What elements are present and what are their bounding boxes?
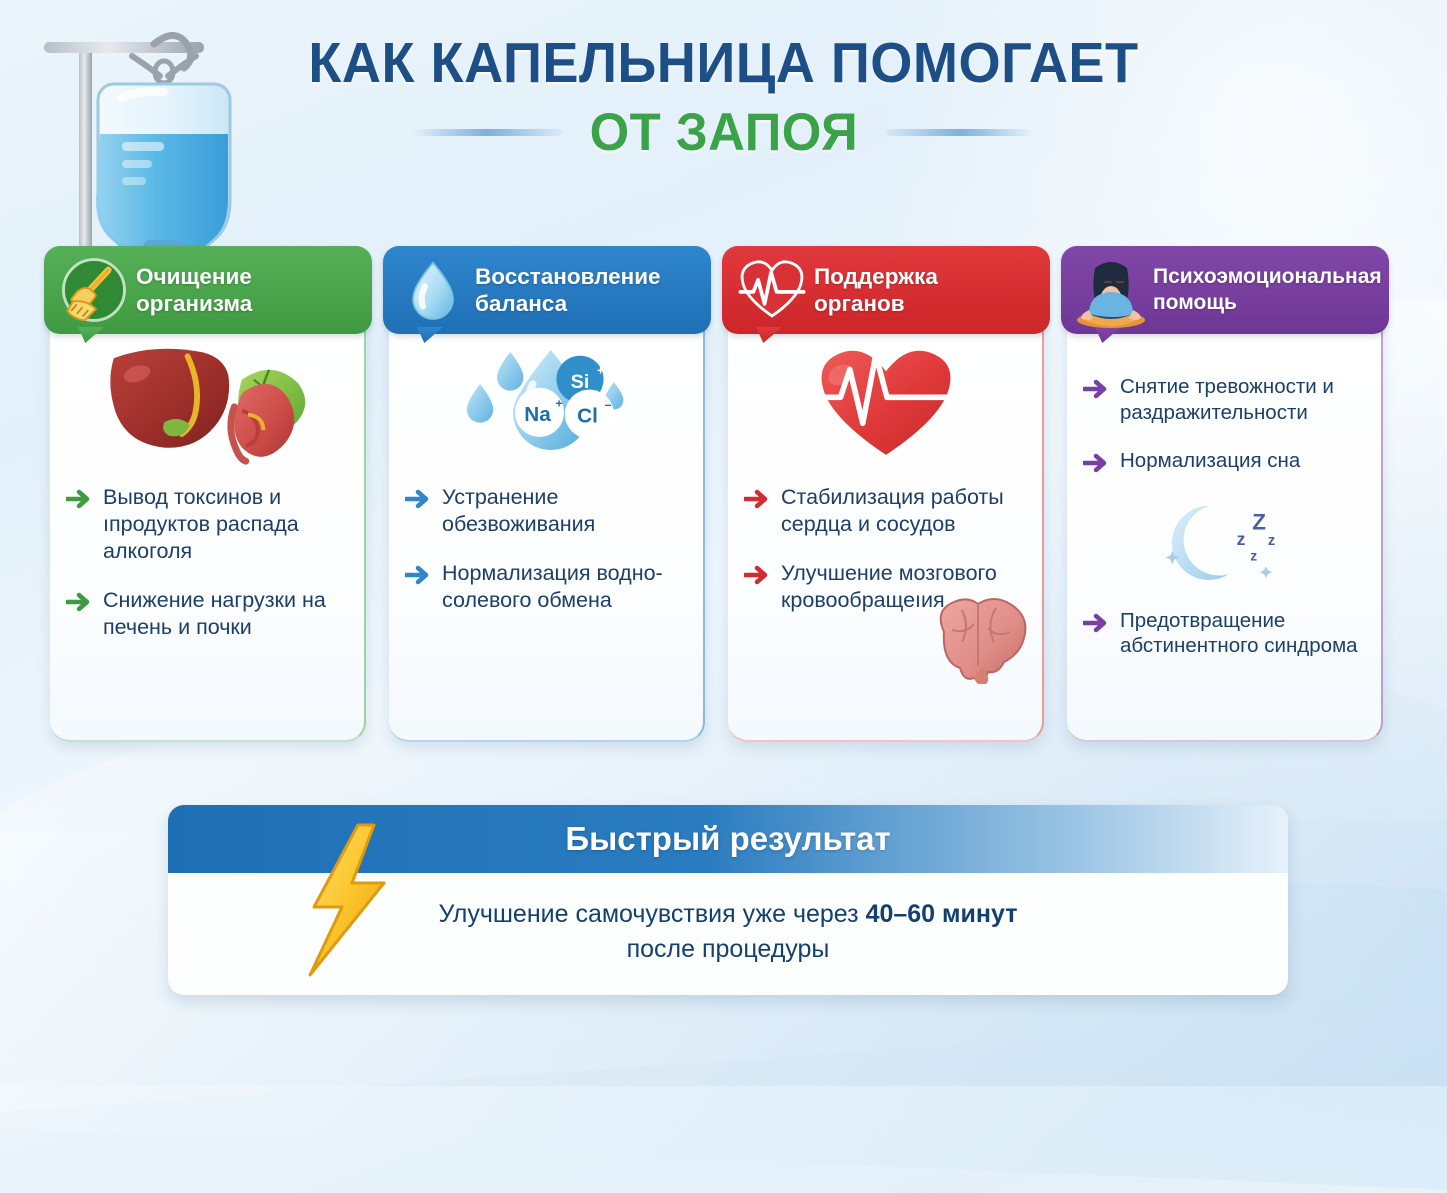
list-item: Стабилизация работы сердца и сосудов: [744, 484, 1028, 538]
card-psycho-bullets-2: Предотвращение абстинентного синдрома: [1083, 594, 1367, 660]
card-balance-body: Si + Na + Cl − Устранение обезвоживания: [389, 312, 705, 742]
list-item: Нормализация сна: [1083, 448, 1367, 478]
card-organs[interactable]: Поддержка органов: [722, 246, 1050, 742]
card-cleansing-header: Очищение организма: [44, 246, 372, 334]
bullet-text: Снижение нагрузки на печень и почки: [103, 587, 350, 641]
card-title-line2: помощь: [1153, 291, 1237, 314]
arrow-right-icon: [1083, 613, 1109, 638]
divider-right: [885, 129, 1035, 136]
page-title-block: КАК КАПЕЛЬНИЦА ПОМОГАЕТ ОТ ЗАПОЯ: [0, 34, 1447, 163]
arrow-right-icon: [1083, 453, 1109, 478]
card-psycho[interactable]: Психоэмоциональная помощь Снятие тревожн…: [1061, 246, 1389, 742]
electrolyte-label-si: Si: [571, 371, 590, 393]
card-psycho-title: Психоэмоциональная помощь: [1153, 264, 1382, 315]
subtitle-row: ОТ ЗАПОЯ: [0, 102, 1447, 163]
meditation-icon: [1069, 248, 1153, 332]
svg-text:−: −: [605, 398, 612, 412]
card-organs-title: Поддержка органов: [814, 263, 1038, 318]
card-organs-body: Стабилизация работы сердца и сосудов Улу…: [728, 312, 1044, 742]
electrolyte-drops-illustration: Si + Na + Cl −: [405, 326, 689, 476]
result-banner-title: Быстрый результат: [565, 820, 890, 858]
benefit-cards-row: Очищение организма: [44, 246, 1410, 742]
page-subtitle: ОТ ЗАПОЯ: [589, 102, 858, 163]
card-cleansing-bullets: Вывод токсинов и ıпродуктов распада алко…: [66, 484, 350, 641]
arrow-right-icon: [405, 565, 431, 590]
svg-text:+: +: [555, 397, 562, 411]
svg-text:Z: Z: [1252, 509, 1266, 534]
arrow-right-icon: [744, 565, 770, 590]
svg-text:+: +: [597, 364, 604, 378]
card-organs-header: Поддержка органов: [722, 246, 1050, 334]
svg-text:z: z: [1237, 529, 1246, 549]
list-item: Вывод токсинов и ıпродуктов распада алко…: [66, 484, 350, 565]
arrow-right-icon: [1083, 379, 1109, 404]
bullet-text: Нормализация сна: [1120, 448, 1300, 474]
arrow-right-icon: [66, 489, 92, 514]
svg-text:z: z: [1250, 548, 1257, 563]
list-item: Нормализация водно-солевого обмена: [405, 560, 689, 614]
heart-ecg-illustration: [744, 326, 1028, 476]
list-item: Снижение нагрузки на печень и почки: [66, 587, 350, 641]
list-item: Снятие тревожности и раздражительности: [1083, 374, 1367, 426]
electrolyte-label-cl: Cl: [577, 405, 598, 428]
card-balance-header: Восстановление баланса: [383, 246, 711, 334]
electrolyte-label-na: Na: [524, 403, 551, 426]
bullet-text: Вывод токсинов и ıпродуктов распада алко…: [103, 484, 350, 565]
card-psycho-bullets: Снятие тревожности и раздражительности Н…: [1083, 360, 1367, 478]
card-psycho-body: Снятие тревожности и раздражительности Н…: [1067, 312, 1383, 742]
card-title-line2: организма: [136, 291, 252, 316]
card-balance-title: Восстановление баланса: [475, 263, 699, 318]
water-drop-icon: [391, 248, 475, 332]
list-item: Предотвращение абстинентного синдрома: [1083, 608, 1367, 660]
arrow-right-icon: [744, 489, 770, 514]
arrow-right-icon: [405, 489, 431, 514]
bullet-text: Устранение обезвоживания: [442, 484, 689, 538]
bullet-text: Нормализация водно-солевого обмена: [442, 560, 689, 614]
card-title-line1: Очищение: [136, 264, 252, 289]
card-psycho-header: Психоэмоциональная помощь: [1061, 246, 1389, 334]
card-title-line1: Поддержка: [814, 264, 938, 289]
divider-left: [412, 129, 562, 136]
card-title-line1: Психоэмоциональная: [1153, 265, 1382, 288]
heart-pulse-icon: [730, 248, 814, 332]
result-banner: Быстрый результат Улучшение самочувствия…: [168, 805, 1288, 995]
page-title: КАК КАПЕЛЬНИЦА ПОМОГАЕТ: [36, 34, 1411, 92]
brain-icon: [918, 588, 1038, 684]
result-text-before: Улучшение самочувствия уже через: [439, 900, 866, 928]
card-balance[interactable]: Восстановление баланса: [383, 246, 711, 742]
card-title-line2: органов: [814, 291, 905, 316]
lightning-bolt-icon: [300, 821, 396, 979]
card-balance-bullets: Устранение обезвоживания Нормализация во…: [405, 484, 689, 614]
svg-text:z: z: [1268, 533, 1275, 549]
moon-sleep-illustration: Z z z z: [1083, 496, 1367, 584]
card-cleansing[interactable]: Очищение организма: [44, 246, 372, 742]
bullet-text: Снятие тревожности и раздражительности: [1120, 374, 1367, 426]
card-cleansing-title: Очищение организма: [136, 263, 360, 318]
bullet-text: Предотвращение абстинентного синдрома: [1120, 608, 1367, 660]
card-title-line2: баланса: [475, 291, 567, 316]
broom-icon: [52, 248, 136, 332]
list-item: Устранение обезвоживания: [405, 484, 689, 538]
arrow-right-icon: [66, 592, 92, 617]
card-title-line1: Восстановление: [475, 264, 661, 289]
bullet-text: Стабилизация работы сердца и сосудов: [781, 484, 1028, 538]
card-cleansing-body: Вывод токсинов и ıпродуктов распада алко…: [50, 312, 366, 742]
result-highlight: 40–60 минут: [866, 900, 1018, 928]
liver-kidney-leaf-illustration: [66, 326, 350, 476]
